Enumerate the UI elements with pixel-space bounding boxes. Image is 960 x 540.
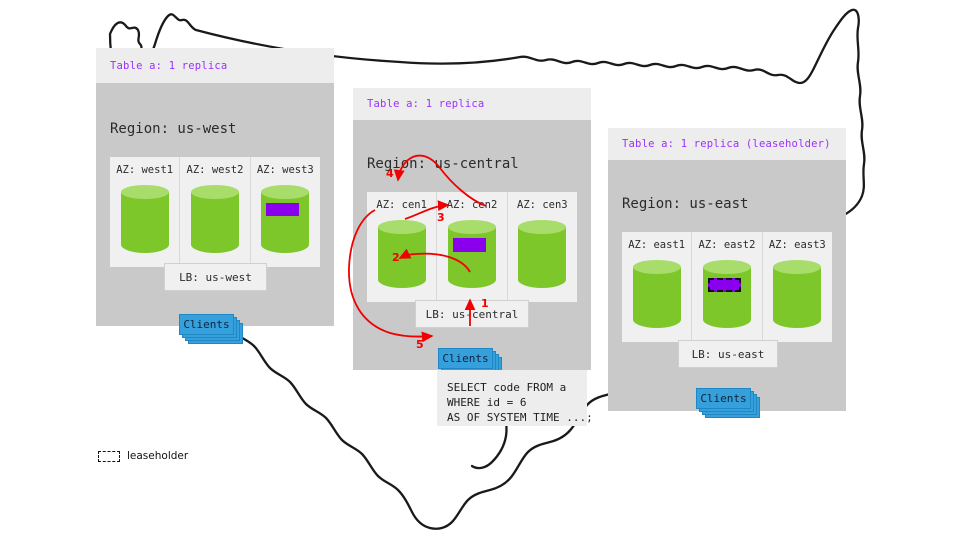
cylinder-body [261, 192, 309, 253]
step-label-5: 5 [416, 338, 424, 351]
region-title: Region: us-west [110, 121, 236, 137]
clients-card-front[interactable]: Clients [179, 314, 234, 335]
legend-label: leaseholder [127, 450, 188, 462]
az-cell-cen3: AZ: cen3 [508, 192, 577, 302]
load-balancer-us-west[interactable]: LB: us-west [164, 263, 267, 291]
region-table-header-us-central: Table a: 1 replica [353, 88, 591, 120]
region-panel-us-east: Table a: 1 replica (leaseholder) Region:… [608, 128, 846, 411]
load-balancer-us-east[interactable]: LB: us-east [678, 340, 778, 368]
cylinder-top [261, 185, 309, 199]
clients-card-front[interactable]: Clients [438, 348, 493, 369]
cylinder-top [121, 185, 169, 199]
node-cylinder [633, 260, 681, 328]
replica-block-west3 [266, 203, 299, 216]
az-label: AZ: cen1 [376, 199, 427, 211]
az-cell-east1: AZ: east1 [622, 232, 692, 342]
node-cylinder [378, 220, 426, 288]
step-label-4: 4 [386, 167, 394, 180]
table-replica-label: Table a: 1 replica [367, 98, 484, 110]
az-strip-us-east: AZ: east1 AZ: east2 AZ: east3 [622, 232, 832, 342]
region-body-us-central: Region: us-central AZ: cen1 AZ: cen2 [353, 120, 591, 370]
clients-us-east[interactable]: Clients [696, 388, 764, 420]
az-strip-us-west: AZ: west1 AZ: west2 AZ: west3 [110, 157, 320, 267]
sql-query-box: SELECT code FROM a WHERE id = 6 AS OF SY… [437, 370, 587, 426]
node-cylinder [261, 185, 309, 253]
step-label-2: 2 [392, 251, 400, 264]
az-label: AZ: east1 [628, 239, 685, 251]
cylinder-body [773, 267, 821, 328]
az-label: AZ: west3 [257, 164, 314, 176]
sql-line-3: AS OF SYSTEM TIME ...; [447, 410, 587, 425]
cylinder-body [121, 192, 169, 253]
az-label: AZ: cen2 [447, 199, 498, 211]
cylinder-top [448, 220, 496, 234]
az-cell-west2: AZ: west2 [180, 157, 250, 267]
region-body-us-east: Region: us-east AZ: east1 AZ: east2 [608, 160, 846, 411]
table-replica-label: Table a: 1 replica (leaseholder) [622, 138, 831, 150]
node-cylinder [703, 260, 751, 328]
cylinder-top [703, 260, 751, 274]
az-label: AZ: east2 [699, 239, 756, 251]
node-cylinder [518, 220, 566, 288]
region-title: Region: us-east [622, 196, 748, 212]
region-body-us-west: Region: us-west AZ: west1 AZ: west2 [96, 83, 334, 326]
legend-leaseholder: leaseholder [98, 450, 188, 462]
node-cylinder [448, 220, 496, 288]
region-panel-us-central: Table a: 1 replica Region: us-central AZ… [353, 88, 591, 370]
cylinder-body [378, 227, 426, 288]
node-cylinder [773, 260, 821, 328]
az-cell-cen1: AZ: cen1 [367, 192, 437, 302]
az-label: AZ: cen3 [517, 199, 568, 211]
cylinder-top [633, 260, 681, 274]
cylinder-body [191, 192, 239, 253]
load-balancer-us-central[interactable]: LB: us-central [415, 300, 529, 328]
step-label-1: 1 [481, 297, 489, 310]
az-label: AZ: east3 [769, 239, 826, 251]
cylinder-body [703, 267, 751, 328]
node-cylinder [191, 185, 239, 253]
az-strip-us-central: AZ: cen1 AZ: cen2 AZ: cen3 [367, 192, 577, 302]
cylinder-top [191, 185, 239, 199]
az-cell-west1: AZ: west1 [110, 157, 180, 267]
clients-card-front[interactable]: Clients [696, 388, 751, 409]
cylinder-body [633, 267, 681, 328]
cylinder-body [518, 227, 566, 288]
region-table-header-us-west: Table a: 1 replica [96, 48, 334, 83]
az-cell-east3: AZ: east3 [763, 232, 832, 342]
cylinder-body [448, 227, 496, 288]
region-table-header-us-east: Table a: 1 replica (leaseholder) [608, 128, 846, 160]
step-label-3: 3 [437, 211, 445, 224]
sql-line-2: WHERE id = 6 [447, 395, 587, 410]
node-cylinder [121, 185, 169, 253]
az-cell-cen2: AZ: cen2 [437, 192, 507, 302]
az-label: AZ: west2 [187, 164, 244, 176]
replica-block-east2-leaseholder [708, 278, 741, 292]
diagram-stage: Table a: 1 replica Region: us-west AZ: w… [0, 0, 960, 540]
cylinder-top [773, 260, 821, 274]
az-cell-east2: AZ: east2 [692, 232, 762, 342]
replica-block-cen2 [453, 238, 486, 252]
table-replica-label: Table a: 1 replica [110, 60, 227, 72]
az-cell-west3: AZ: west3 [251, 157, 320, 267]
cylinder-top [378, 220, 426, 234]
cylinder-top [518, 220, 566, 234]
az-label: AZ: west1 [116, 164, 173, 176]
region-panel-us-west: Table a: 1 replica Region: us-west AZ: w… [96, 48, 334, 326]
clients-us-west[interactable]: Clients [179, 314, 247, 346]
sql-line-1: SELECT code FROM a [447, 380, 587, 395]
leaseholder-swatch-icon [98, 451, 120, 462]
